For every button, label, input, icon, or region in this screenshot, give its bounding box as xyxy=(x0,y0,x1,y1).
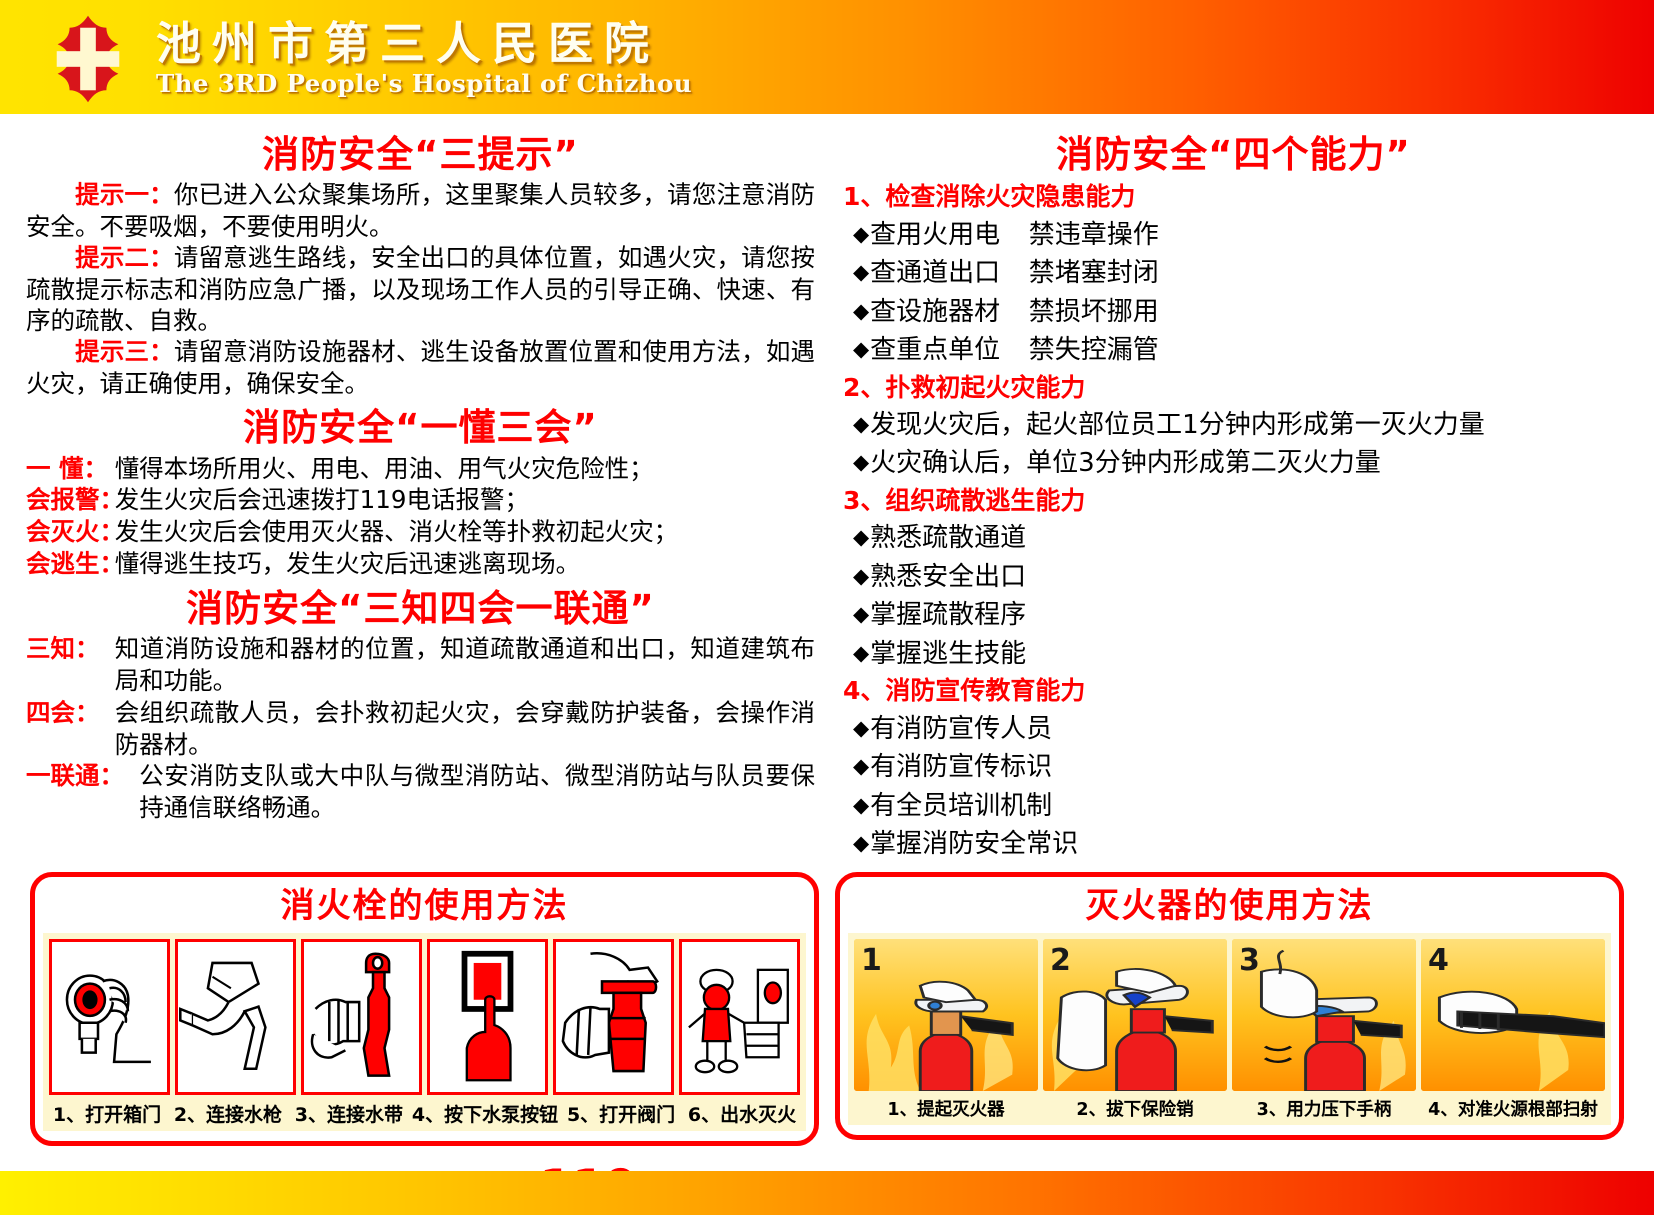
ability-item-text-a: 掌握逃生技能 xyxy=(870,639,1026,669)
hydrant-step-captions: 1、打开箱门 2、连接水枪 3、连接水带 4、按下水泵按钮 5、打开阀门 6、出… xyxy=(49,1100,800,1127)
ability-item-3-2: ◆熟悉安全出口 xyxy=(839,558,1628,596)
extinguisher-panel-title: 灭火器的使用方法 xyxy=(848,885,1611,928)
squeeze-handle-photo: 3 xyxy=(1232,939,1416,1091)
ability-item-1-4: ◆查重点单位禁失控漏管 xyxy=(839,331,1628,369)
diamond-bullet-icon: ◆ xyxy=(853,525,869,549)
left-column: 消防安全“三提示” 提示一：你已进入公众聚集场所，这里聚集人员较多，请您注意消防… xyxy=(26,132,815,864)
aim-at-fire-base-photo: 4 xyxy=(1421,939,1605,1091)
extinguisher-caption-4: 4、对准火源根部扫射 xyxy=(1421,1096,1605,1121)
pull-safety-pin-photo: 2 xyxy=(1043,939,1227,1091)
hand-opening-hydrant-box-icon xyxy=(49,939,170,1095)
step-number-3: 3 xyxy=(1239,943,1260,978)
tip-paragraph-3: 提示三：请留意消防设施器材、逃生设备放置位置和使用方法，如遇火灾，请正确使用，确… xyxy=(26,336,815,399)
hospital-brand: 池州市第三人民医院 The 3RD People's Hospital of C… xyxy=(156,20,692,99)
one-know-key-3: 会灭火： xyxy=(26,516,115,548)
ability-item-4-4: ◆掌握消防安全常识 xyxy=(839,825,1628,863)
hydrant-step-images xyxy=(49,939,800,1095)
ability-item-text-b: 禁失控漏管 xyxy=(1029,335,1159,365)
firefighter-spraying-water-icon xyxy=(679,939,800,1095)
diamond-bullet-icon: ◆ xyxy=(853,564,869,588)
ability-item-1-2: ◆查通道出口禁堵塞封闭 xyxy=(839,254,1628,292)
tip-label-3: 提示三： xyxy=(75,337,174,366)
diamond-bullet-icon: ◆ xyxy=(853,602,869,626)
three-know-key-2: 四会： xyxy=(26,697,115,761)
section-title-one-understand-three-can: 消防安全“一懂三会” xyxy=(26,405,815,450)
section-title-three-know-four-can: 消防安全“三知四会一联通” xyxy=(26,586,815,631)
ability-item-text-a: 查重点单位 xyxy=(870,335,1000,365)
ability-item-4-2: ◆有消防宣传标识 xyxy=(839,748,1628,786)
three-know-key-1: 三知： xyxy=(26,633,115,697)
hand-opening-valve-icon xyxy=(553,939,674,1095)
diamond-bullet-icon: ◆ xyxy=(853,641,869,665)
ability-heading-3: 3、组织疏散逃生能力 xyxy=(839,483,1628,520)
ability-item-2-2: ◆火灾确认后，单位3分钟内形成第二灭火力量 xyxy=(839,444,1628,482)
ability-heading-4: 4、消防宣传教育能力 xyxy=(839,673,1628,710)
fire-safety-poster: 池州市第三人民医院 The 3RD People's Hospital of C… xyxy=(0,0,1654,1165)
three-know-text-1: 知道消防设施和器材的位置，知道疏散通道和出口，知道建筑布局和功能。 xyxy=(115,633,815,697)
diamond-bullet-icon: ◆ xyxy=(853,450,869,474)
three-know-text-2: 会组织疏散人员，会扑救初起火灾，会穿戴防护装备，会操作消防器材。 xyxy=(115,697,815,761)
ability-item-text-b: 禁堵塞封闭 xyxy=(1029,258,1159,288)
three-know-row-1: 三知： 知道消防设施和器材的位置，知道疏散通道和出口，知道建筑布局和功能。 xyxy=(26,633,815,697)
one-know-text-1: 懂得本场所用火、用电、用油、用气火灾危险性； xyxy=(115,453,815,485)
ability-item-1-1: ◆查用火用电禁违章操作 xyxy=(839,216,1628,254)
diamond-bullet-icon: ◆ xyxy=(853,222,869,246)
hospital-name-en: The 3RD People's Hospital of Chizhou xyxy=(156,69,692,98)
diamond-bullet-icon: ◆ xyxy=(853,299,869,323)
one-know-row-1: 一 懂： 懂得本场所用火、用电、用油、用气火灾危险性； xyxy=(26,453,815,485)
section-title-four-abilities: 消防安全“四个能力” xyxy=(839,132,1628,177)
hands-connecting-hose-icon xyxy=(301,939,422,1095)
ability-item-text-a: 有消防宣传人员 xyxy=(870,714,1052,744)
right-column: 消防安全“四个能力” 1、检查消除火灾隐患能力 ◆查用火用电禁违章操作 ◆查通道… xyxy=(839,132,1628,864)
ability-item-4-3: ◆有全员培训机制 xyxy=(839,787,1628,825)
diamond-bullet-icon: ◆ xyxy=(853,831,869,855)
lift-extinguisher-photo: 1 xyxy=(854,939,1038,1091)
ability-item-text-a: 查设施器材 xyxy=(870,297,1000,327)
ability-heading-2: 2、扑救初起火灾能力 xyxy=(839,370,1628,407)
ability-item-text-a: 火灾确认后，单位3分钟内形成第二灭火力量 xyxy=(870,448,1381,478)
hydrant-caption-3: 3、连接水带 xyxy=(291,1100,407,1127)
one-know-text-3: 发生火灾后会使用灭火器、消火栓等扑救初起火灾； xyxy=(115,516,815,548)
ability-item-text-a: 掌握疏散程序 xyxy=(870,600,1026,630)
ability-item-4-1: ◆有消防宣传人员 xyxy=(839,710,1628,748)
poster-footer-stripe xyxy=(0,1171,1654,1215)
one-know-row-4: 会逃生： 懂得逃生技巧，发生火灾后迅速逃离现场。 xyxy=(26,548,815,580)
one-know-text-2: 发生火灾后会迅速拨打119电话报警； xyxy=(115,484,815,516)
diamond-bullet-icon: ◆ xyxy=(853,337,869,361)
extinguisher-caption-1: 1、提起灭火器 xyxy=(854,1096,1038,1121)
hydrant-caption-4: 4、按下水泵按钮 xyxy=(412,1100,558,1127)
step-number-4: 4 xyxy=(1428,943,1449,978)
extinguisher-usage-panel: 灭火器的使用方法 1 xyxy=(835,872,1624,1141)
instruction-panels: 消火栓的使用方法 xyxy=(0,864,1654,1147)
diamond-bullet-icon: ◆ xyxy=(853,716,869,740)
extinguisher-caption-3: 3、用力压下手柄 xyxy=(1232,1096,1416,1121)
ability-item-text-a: 熟悉疏散通道 xyxy=(870,523,1026,553)
ability-heading-1: 1、检查消除火灾隐患能力 xyxy=(839,179,1628,216)
extinguisher-strip: 1 xyxy=(848,933,1611,1125)
ability-item-text-a: 有全员培训机制 xyxy=(870,791,1052,821)
step-number-1: 1 xyxy=(861,943,882,978)
tip-label-1: 提示一： xyxy=(75,180,174,209)
one-know-text-4: 懂得逃生技巧，发生火灾后迅速逃离现场。 xyxy=(115,548,815,580)
ability-item-text-a: 查通道出口 xyxy=(870,258,1000,288)
hydrant-caption-2: 2、连接水枪 xyxy=(170,1100,286,1127)
diamond-bullet-icon: ◆ xyxy=(853,754,869,778)
one-know-key-1: 一 懂： xyxy=(26,453,115,485)
ability-item-3-1: ◆熟悉疏散通道 xyxy=(839,519,1628,557)
three-know-row-2: 四会： 会组织疏散人员，会扑救初起火灾，会穿戴防护装备，会操作消防器材。 xyxy=(26,697,815,761)
extinguisher-caption-2: 2、拔下保险销 xyxy=(1043,1096,1227,1121)
one-know-key-2: 会报警： xyxy=(26,484,115,516)
ability-item-text-a: 发现火灾后，起火部位员工1分钟内形成第一灭火力量 xyxy=(870,410,1485,440)
hydrant-usage-panel: 消火栓的使用方法 xyxy=(30,872,819,1147)
tip-paragraph-1: 提示一：你已进入公众聚集场所，这里聚集人员较多，请您注意消防安全。不要吸烟，不要… xyxy=(26,179,815,242)
hydrant-caption-5: 5、打开阀门 xyxy=(563,1100,679,1127)
ability-item-text-a: 掌握消防安全常识 xyxy=(870,829,1078,859)
three-know-key-3: 一联通： xyxy=(26,760,139,824)
ability-item-text-b: 禁违章操作 xyxy=(1029,220,1159,250)
hospital-cross-logo-icon xyxy=(42,13,134,105)
ability-item-2-1: ◆发现火灾后，起火部位员工1分钟内形成第一灭火力量 xyxy=(839,406,1628,444)
extinguisher-step-images: 1 xyxy=(854,939,1605,1091)
ability-item-text-a: 查用火用电 xyxy=(870,220,1000,250)
diamond-bullet-icon: ◆ xyxy=(853,260,869,284)
step-number-2: 2 xyxy=(1050,943,1071,978)
diamond-bullet-icon: ◆ xyxy=(853,793,869,817)
tip-paragraph-2: 提示二：请留意逃生路线，安全出口的具体位置，如遇火灾，请您按疏散提示标志和消防应… xyxy=(26,242,815,336)
hydrant-strip: 1、打开箱门 2、连接水枪 3、连接水带 4、按下水泵按钮 5、打开阀门 6、出… xyxy=(43,933,806,1131)
ability-item-1-3: ◆查设施器材禁损坏挪用 xyxy=(839,293,1628,331)
section-title-three-tips: 消防安全“三提示” xyxy=(26,132,815,177)
hospital-name-cn: 池州市第三人民医院 xyxy=(156,20,692,69)
three-know-row-3: 一联通： 公安消防支队或大中队与微型消防站、微型消防站与队员要保持通信联络畅通。 xyxy=(26,760,815,824)
one-know-row-2: 会报警： 发生火灾后会迅速拨打119电话报警； xyxy=(26,484,815,516)
finger-pressing-pump-button-icon xyxy=(427,939,548,1095)
hydrant-caption-1: 1、打开箱门 xyxy=(49,1100,165,1127)
one-know-row-3: 会灭火： 发生火灾后会使用灭火器、消火栓等扑救初起火灾； xyxy=(26,516,815,548)
ability-item-3-4: ◆掌握逃生技能 xyxy=(839,635,1628,673)
one-know-key-4: 会逃生： xyxy=(26,548,115,580)
poster-body: 消防安全“三提示” 提示一：你已进入公众聚集场所，这里聚集人员较多，请您注意消防… xyxy=(0,118,1654,1215)
hands-connecting-nozzle-icon xyxy=(175,939,296,1095)
three-know-text-3: 公安消防支队或大中队与微型消防站、微型消防站与队员要保持通信联络畅通。 xyxy=(139,760,815,824)
hydrant-panel-title: 消火栓的使用方法 xyxy=(43,885,806,928)
hydrant-caption-6: 6、出水灭火 xyxy=(684,1100,800,1127)
poster-header: 池州市第三人民医院 The 3RD People's Hospital of C… xyxy=(0,0,1654,118)
ability-item-text-b: 禁损坏挪用 xyxy=(1029,297,1159,327)
extinguisher-step-captions: 1、提起灭火器 2、拔下保险销 3、用力压下手柄 4、对准火源根部扫射 xyxy=(854,1096,1605,1121)
two-column-text: 消防安全“三提示” 提示一：你已进入公众聚集场所，这里聚集人员较多，请您注意消防… xyxy=(0,118,1654,864)
ability-item-text-a: 熟悉安全出口 xyxy=(870,562,1026,592)
diamond-bullet-icon: ◆ xyxy=(853,412,869,436)
ability-item-3-3: ◆掌握疏散程序 xyxy=(839,596,1628,634)
tip-label-2: 提示二： xyxy=(75,243,174,272)
ability-item-text-a: 有消防宣传标识 xyxy=(870,752,1052,782)
